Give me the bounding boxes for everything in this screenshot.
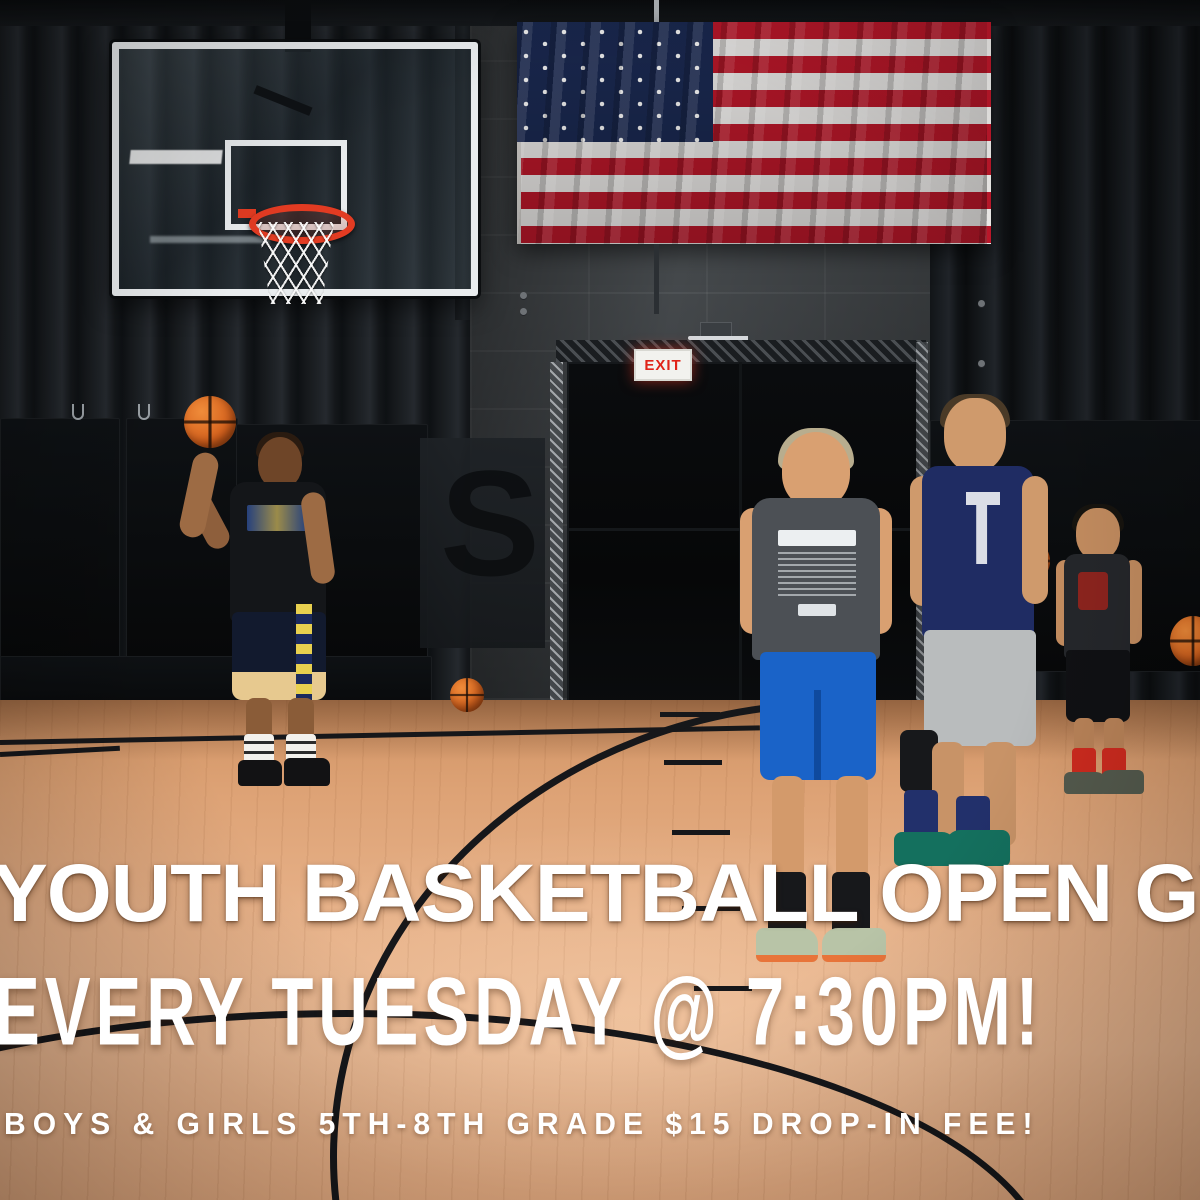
wall-anchor-bolt xyxy=(520,292,527,299)
wall-pad xyxy=(0,418,120,658)
player-3-head xyxy=(1076,508,1120,560)
court-lane-hash xyxy=(664,760,722,765)
flag-mount-pole-bottom xyxy=(654,244,659,314)
poster-image: EXIT S xyxy=(0,0,1200,1200)
mesh-divider-post-left xyxy=(550,362,563,718)
player-1-shorts-seam xyxy=(814,690,821,780)
coach-shirt-graphic xyxy=(247,505,307,531)
basketball-on-floor xyxy=(450,678,484,712)
poster-headline: YOUTH BASKETBALL OPEN GYM! xyxy=(0,856,1200,931)
player-2-arm xyxy=(1022,476,1048,604)
backboard-glare xyxy=(129,150,222,164)
exit-sign: EXIT xyxy=(634,349,692,381)
court-lane-hash xyxy=(672,830,730,835)
wall-anchor-bolt xyxy=(520,308,527,315)
player-3-shirt-graphic xyxy=(1078,572,1108,610)
backboard-glare xyxy=(150,236,270,243)
divider-cage-header xyxy=(556,340,926,362)
wall-anchor-bolt xyxy=(978,300,985,307)
wall-pad-hook xyxy=(72,404,84,420)
player-3-shorts xyxy=(1066,650,1130,722)
wall-anchor-bolt xyxy=(978,360,985,367)
court-lane-hash xyxy=(660,712,720,717)
player-2-sock xyxy=(904,790,938,838)
player-1-head xyxy=(782,432,850,508)
basketball-held-by-coach xyxy=(184,396,236,448)
poster-tagline: BOYS & GIRLS 5TH-8TH GRADE $15 DROP-IN F… xyxy=(4,1108,1184,1139)
coach-shoe xyxy=(284,758,330,786)
poster-subline: EVERY TUESDAY @ 7:30PM! xyxy=(0,967,967,1058)
player-1-shirt-print-body xyxy=(778,552,856,598)
basketball-net xyxy=(258,222,334,304)
coach-shorts-stripe xyxy=(296,604,312,700)
coach-shoe xyxy=(238,760,282,786)
wall-pad-hook xyxy=(138,404,150,420)
player-2-shorts xyxy=(924,630,1036,746)
player-1-shirt-print-footer xyxy=(798,604,836,616)
player-3-shoe xyxy=(1100,770,1144,794)
player-1-shirt-print-title xyxy=(778,530,856,546)
flag-fabric-shading xyxy=(517,22,987,244)
wall-logo-icon: S xyxy=(440,452,526,632)
player-2-head xyxy=(944,398,1006,472)
exit-sign-label: EXIT xyxy=(644,358,681,373)
